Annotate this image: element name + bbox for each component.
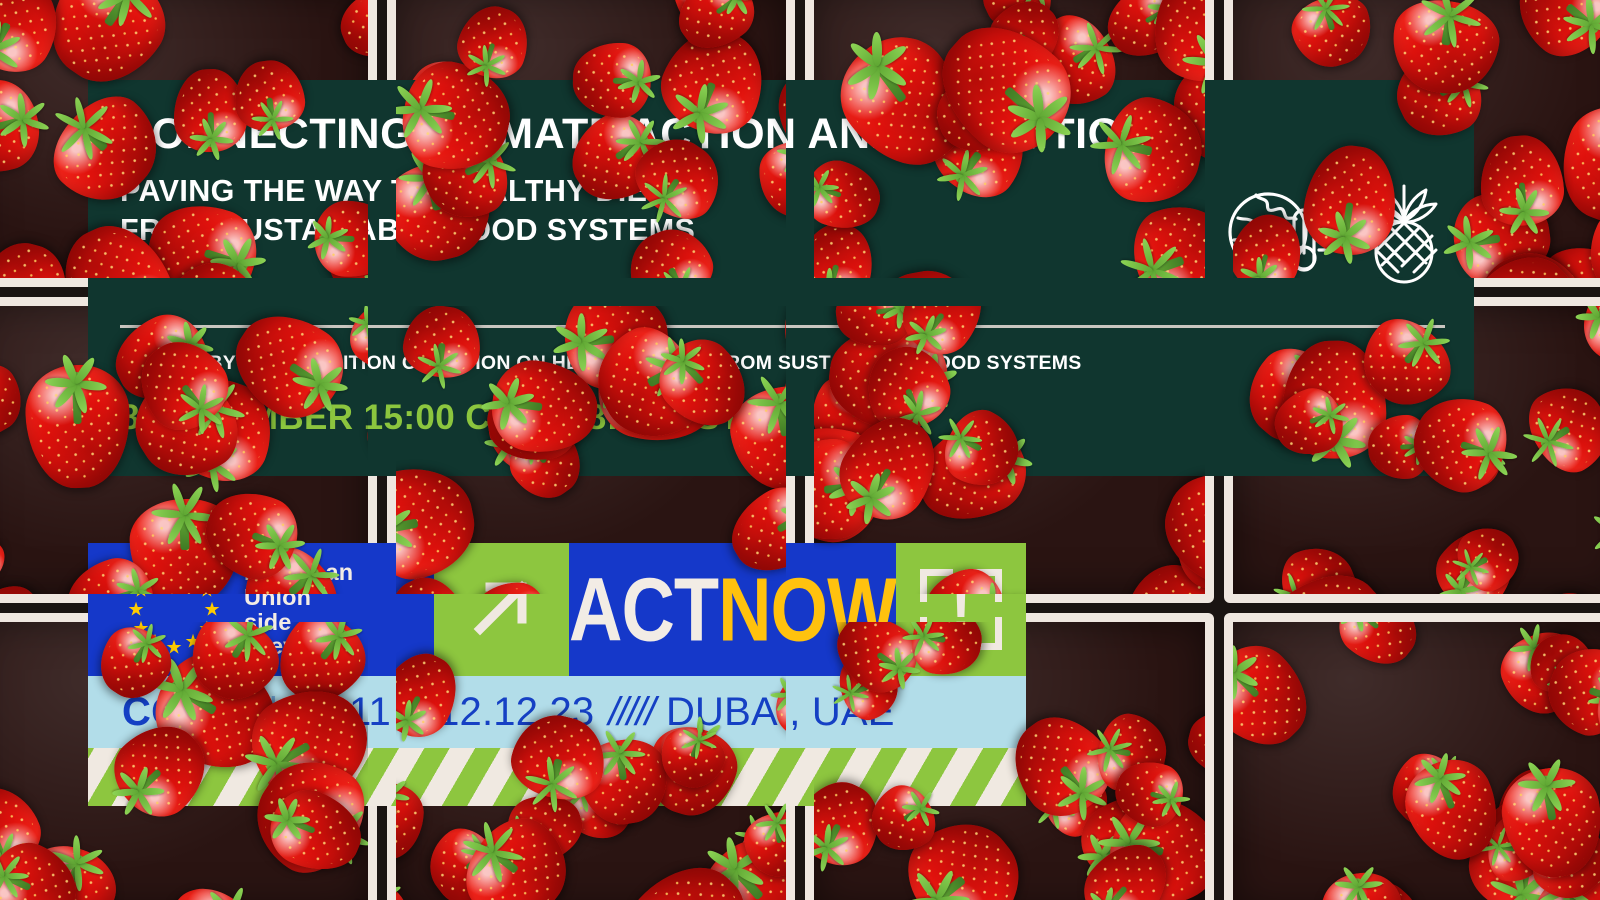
event-poster: CONNECTING CLIMATE ACTION AND NUTRITION …: [0, 0, 1600, 900]
arrow-up-right-icon: [466, 571, 538, 648]
punnet: [1224, 613, 1600, 900]
arrow-tile: [434, 543, 569, 676]
act-word: ACT: [569, 558, 718, 659]
punnet: [0, 613, 377, 900]
